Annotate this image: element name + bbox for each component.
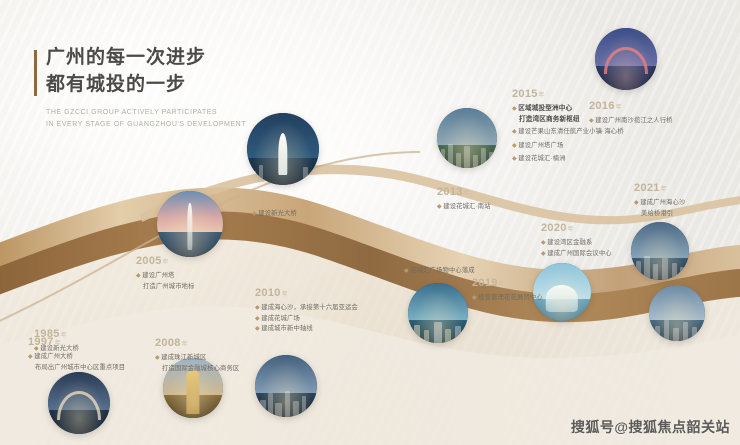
- watermark-at: @: [614, 419, 628, 435]
- node-2005-items: ◆建设广州塔 打造广州城市地标: [136, 271, 195, 291]
- riverside-towers-photo: [631, 222, 689, 280]
- list-item: ◆建成广州海心沙: [634, 198, 685, 209]
- bullet-icon: ◆: [512, 143, 517, 149]
- node-2017-label: ◆花城汇广场物中心落成: [404, 264, 475, 277]
- list-item: ◆建设广州塔: [136, 271, 195, 282]
- node-2021[interactable]: [649, 285, 705, 341]
- node-2017-items: ◆花城汇广场物中心落成: [404, 266, 475, 277]
- list-item: 美给桥港引: [634, 209, 685, 219]
- list-item: ◆建成花城广场: [255, 314, 358, 325]
- bullet-icon: ◆: [541, 251, 546, 257]
- bullet-icon: ◆: [28, 354, 33, 360]
- bullet-icon: ◆: [255, 316, 260, 322]
- watermark-name: 搜狐焦点韶关站: [629, 419, 731, 435]
- bullet-icon: ◆: [512, 129, 517, 135]
- node-2010-items: ◆建成海心沙，承接第十六届亚运会 ◆建成花城广场 ◆建成城市新中轴线: [255, 303, 358, 335]
- list-item: 打造国际金融城核心商务区: [155, 364, 239, 374]
- watermark-prefix: 搜狐号: [571, 419, 615, 435]
- list-item: ◆建设湾区金融系: [541, 238, 612, 249]
- node-2013[interactable]: [408, 283, 468, 343]
- node-2005-year: 2005年: [136, 255, 195, 269]
- headline-en-line-2: IN EVERY STAGE OF GUANGZHOU'S DEVELOPMEN…: [46, 119, 246, 130]
- modern-exhibition-photo: [437, 108, 497, 168]
- bullet-icon: ◆: [255, 326, 260, 332]
- node-2019-items: ◆经营管理花花展贸中心: [472, 293, 543, 304]
- sohu-watermark: 搜狐号@搜狐焦点韶关站: [571, 417, 730, 437]
- node-2010-label: 2010年 ◆建成海心沙，承接第十六届亚运会 ◆建成花城广场 ◆建成城市新中轴线: [255, 287, 358, 335]
- node-2020-items: ◆建设湾区金融系 ◆建成广州国际会议中心: [541, 238, 612, 259]
- node-2019-year: 2019年: [472, 277, 543, 291]
- node-2016-label: 2016年 ◆建设广州南沙揽江之人行桥 — 海心桥: [589, 100, 673, 136]
- guangzhou-night-bridge-photo: [48, 372, 110, 434]
- node-1997-items: ◆建成广州大桥 布局出广州城市中心区重点项目: [28, 352, 125, 372]
- node-1985[interactable]: [48, 372, 110, 434]
- bullet-icon: ◆: [634, 200, 639, 206]
- node-2016[interactable]: [595, 28, 657, 90]
- list-item: ◆建成广州大桥: [28, 352, 125, 363]
- pazhou-district-photo: [255, 355, 317, 417]
- bullet-icon: ◆: [589, 118, 594, 124]
- nansha-skyline-photo: [649, 285, 705, 341]
- bullet-icon: ◆: [155, 355, 160, 361]
- headline-line-1: 广州的每一次进步: [46, 44, 246, 71]
- node-2020[interactable]: [631, 222, 689, 280]
- node-2005-label: 2005年 ◆建设广州塔 打造广州城市地标: [136, 255, 195, 291]
- list-item: ◆建成城市新中轴线: [255, 324, 358, 335]
- list-item: 打造广州城市地标: [136, 282, 195, 292]
- node-2020-year: 2020年: [541, 222, 612, 236]
- headline-accent-bar: [34, 50, 37, 96]
- bullet-icon: ◆: [541, 240, 546, 246]
- node-2008-items: ◆建成珠江新城区 打造国际金融城核心商务区: [155, 353, 239, 373]
- headline-block: 广州的每一次进步 都有城投的一步 THE GZCCI GROUP ACTIVEL…: [46, 44, 246, 130]
- haixinsha-stadium-photo: [247, 113, 319, 185]
- list-item: ◆经营管理花花展贸中心: [472, 293, 543, 304]
- node-2013-year: 2013年: [437, 186, 491, 200]
- bullet-icon: ◆: [472, 295, 477, 301]
- canton-tower-photo: [157, 191, 223, 257]
- bullet-icon: ◆: [512, 106, 517, 112]
- list-item: ◆建成珠江新城区: [155, 353, 239, 364]
- node-2016-year: 2016年: [589, 100, 673, 114]
- node-2013-label: 2013年 ◆建设花城汇·南站: [437, 186, 491, 213]
- list-item: ◆建设广州南沙揽江之人行桥: [589, 116, 673, 127]
- flower-city-square-photo: [408, 283, 468, 343]
- zhujiang-delta-bridge-photo: [595, 28, 657, 90]
- bullet-icon: ◆: [512, 156, 517, 162]
- bullet-icon: ◆: [255, 305, 260, 311]
- list-item: ◆建成海心沙，承接第十六届亚运会: [255, 303, 358, 314]
- node-2010[interactable]: [247, 113, 319, 185]
- node-2019-label: 2019年 ◆经营管理花花展贸中心: [472, 277, 543, 304]
- node-2021-items: ◆建成广州海心沙 美给桥港引: [634, 198, 685, 218]
- list-item: ◆建设花城汇·楠洲: [512, 154, 602, 165]
- bullet-icon: ◆: [437, 204, 442, 210]
- bullet-icon: ◆: [252, 211, 257, 217]
- bullet-icon: ◆: [136, 273, 141, 279]
- list-item: ◆建成广州国际会议中心: [541, 249, 612, 260]
- node-2015[interactable]: [437, 108, 497, 168]
- list-item: 布局出广州城市中心区重点项目: [28, 363, 125, 373]
- node-2010-year: 2010年: [255, 287, 358, 301]
- bullet-icon: ◆: [404, 268, 409, 274]
- node-2021-year: 2021年: [634, 182, 685, 196]
- headline-line-2: 都有城投的一步: [46, 71, 246, 98]
- node-2010-caption: ◆建设新光大桥: [252, 209, 297, 220]
- list-item: — 海心桥: [589, 127, 673, 137]
- node-2005[interactable]: [157, 191, 223, 257]
- node-2016-items: ◆建设广州南沙揽江之人行桥 — 海心桥: [589, 116, 673, 136]
- node-2008-year: 2008年: [155, 337, 239, 351]
- node-2020-label: 2020年 ◆建设湾区金融系 ◆建成广州国际会议中心: [541, 222, 612, 259]
- node-2008-label: 2008年 ◆建成珠江新城区 打造国际金融城核心商务区: [155, 337, 239, 373]
- content-layer: 广州的每一次进步 都有城投的一步 THE GZCCI GROUP ACTIVEL…: [0, 0, 740, 445]
- node-1997-year: 1997年: [28, 336, 125, 350]
- node-2008[interactable]: [255, 355, 317, 417]
- headline-en-line-1: THE GZCCI GROUP ACTIVELY PARTICIPATES: [46, 107, 246, 118]
- node-1997-label: 1997年 ◆建成广州大桥 布局出广州城市中心区重点项目: [28, 336, 125, 372]
- node-2021-label: 2021年 ◆建成广州海心沙 美给桥港引: [634, 182, 685, 218]
- list-item: ◆建设花城汇·南站: [437, 202, 491, 213]
- node-2013-items: ◆建设花城汇·南站: [437, 202, 491, 213]
- poster-canvas: 广州的每一次进步 都有城投的一步 THE GZCCI GROUP ACTIVEL…: [0, 0, 740, 445]
- list-item: ◆建设广州塔广场: [512, 141, 602, 152]
- list-item: ◆建设新光大桥: [252, 209, 297, 220]
- list-item: ◆花城汇广场物中心落成: [404, 266, 475, 277]
